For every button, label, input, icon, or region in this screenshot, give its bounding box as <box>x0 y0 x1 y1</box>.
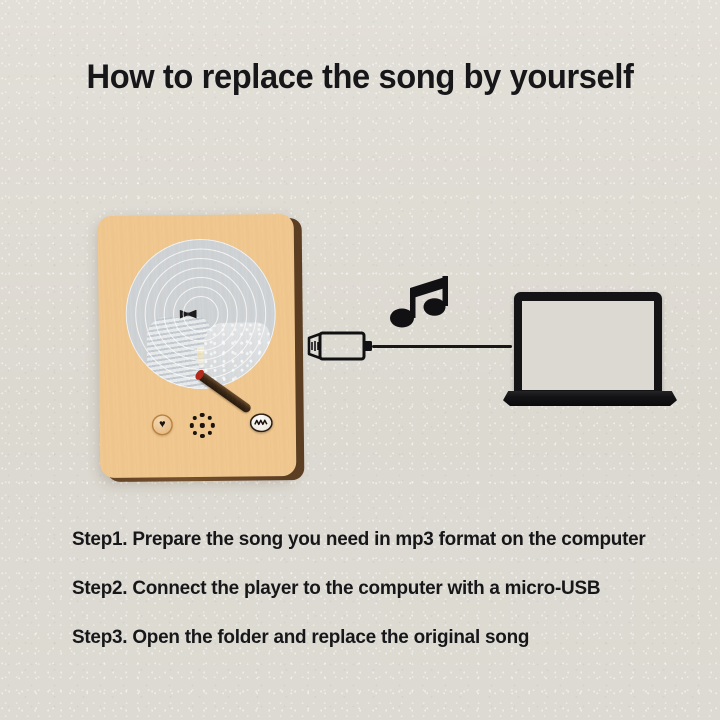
speaker-hole <box>190 423 194 427</box>
steps-list: Step1. Prepare the song you need in mp3 … <box>72 528 672 675</box>
instruction-page: How to replace the song by yourself ♥ <box>0 0 720 720</box>
speaker-grid-icon <box>188 411 217 440</box>
speaker-hole <box>208 431 212 435</box>
record-photo-disc <box>125 238 277 390</box>
heart-button[interactable]: ♥ <box>152 414 173 435</box>
laptop-lid <box>514 292 662 394</box>
record-groove-ring <box>182 296 218 332</box>
step-item-3: Step3. Open the folder and replace the o… <box>72 626 654 649</box>
speaker-hole <box>193 431 197 435</box>
speaker-hole <box>200 434 204 438</box>
step-item-2: Step2. Connect the player to the compute… <box>72 577 654 600</box>
wooden-player: ♥ <box>99 215 304 479</box>
speaker-hole <box>200 413 204 417</box>
speaker-hole <box>193 416 197 420</box>
laptop-screen <box>522 301 654 390</box>
micro-usb-connector-icon <box>307 330 379 364</box>
usb-cable-icon <box>372 345 512 348</box>
laptop-base <box>503 391 677 406</box>
page-title: How to replace the song by yourself <box>14 58 705 97</box>
record-grooves-icon <box>125 238 277 390</box>
heart-icon: ♥ <box>159 419 166 430</box>
speaker-hole <box>207 416 211 420</box>
speaker-hole <box>200 423 204 427</box>
step-item-1: Step1. Prepare the song you need in mp3 … <box>72 528 654 551</box>
laptop-icon <box>503 292 677 414</box>
board-front-face: ♥ <box>98 214 297 478</box>
music-note-icon <box>388 268 454 332</box>
waveform-knob-icon[interactable] <box>250 413 273 432</box>
speaker-hole <box>210 423 214 427</box>
